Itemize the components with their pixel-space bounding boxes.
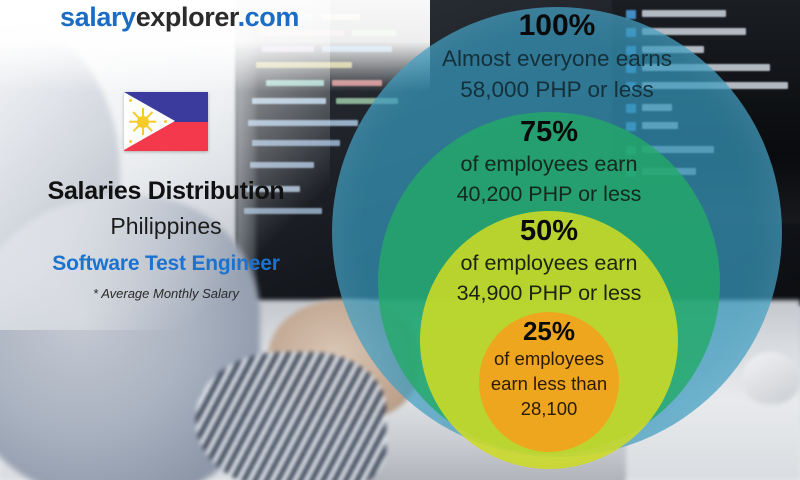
percentile-100-line2: 58,000 PHP or less bbox=[332, 77, 782, 103]
country-name: Philippines bbox=[0, 213, 332, 240]
flag-sun bbox=[137, 116, 149, 128]
percentile-75-line2: 40,200 PHP or less bbox=[378, 182, 720, 207]
percentile-100-line1: Almost everyone earns bbox=[332, 46, 782, 72]
percentile-50-label: 50% of employees earn 34,900 PHP or less bbox=[420, 217, 678, 305]
percentile-25-line1: of employees bbox=[479, 348, 619, 369]
percentile-50-value: 50% bbox=[420, 217, 678, 246]
percentile-circle-25[interactable]: 25% of employees earn less than 28,100 bbox=[479, 312, 619, 452]
logo-part-tld: .com bbox=[238, 2, 299, 32]
percentile-25-line3: 28,100 bbox=[479, 398, 619, 419]
salary-note: * Average Monthly Salary bbox=[0, 286, 332, 301]
percentile-100-label: 100% Almost everyone earns 58,000 PHP or… bbox=[332, 11, 782, 102]
flag-star bbox=[129, 140, 132, 143]
percentile-50-line2: 34,900 PHP or less bbox=[420, 281, 678, 306]
info-panel: Salaries Distribution Philippines Softwa… bbox=[0, 86, 332, 301]
logo-part-salary: salary bbox=[60, 2, 136, 32]
percentile-50-line1: of employees earn bbox=[420, 251, 678, 276]
percentile-75-line1: of employees earn bbox=[378, 152, 720, 177]
percentile-75-value: 75% bbox=[378, 118, 720, 147]
flag-star bbox=[129, 99, 132, 102]
philippines-flag-icon bbox=[124, 92, 208, 151]
percentile-25-label: 25% of employees earn less than 28,100 bbox=[479, 318, 619, 419]
page-title: Salaries Distribution bbox=[0, 177, 332, 206]
logo-part-explorer: explorer bbox=[136, 2, 238, 32]
flag-star bbox=[164, 120, 167, 123]
job-title: Software Test Engineer bbox=[0, 252, 332, 276]
site-logo[interactable]: salaryexplorer.com bbox=[60, 2, 299, 33]
percentile-25-value: 25% bbox=[479, 318, 619, 344]
percentile-100-value: 100% bbox=[332, 11, 782, 41]
percentile-75-label: 75% of employees earn 40,200 PHP or less bbox=[378, 118, 720, 206]
percentile-25-line2: earn less than bbox=[479, 373, 619, 394]
